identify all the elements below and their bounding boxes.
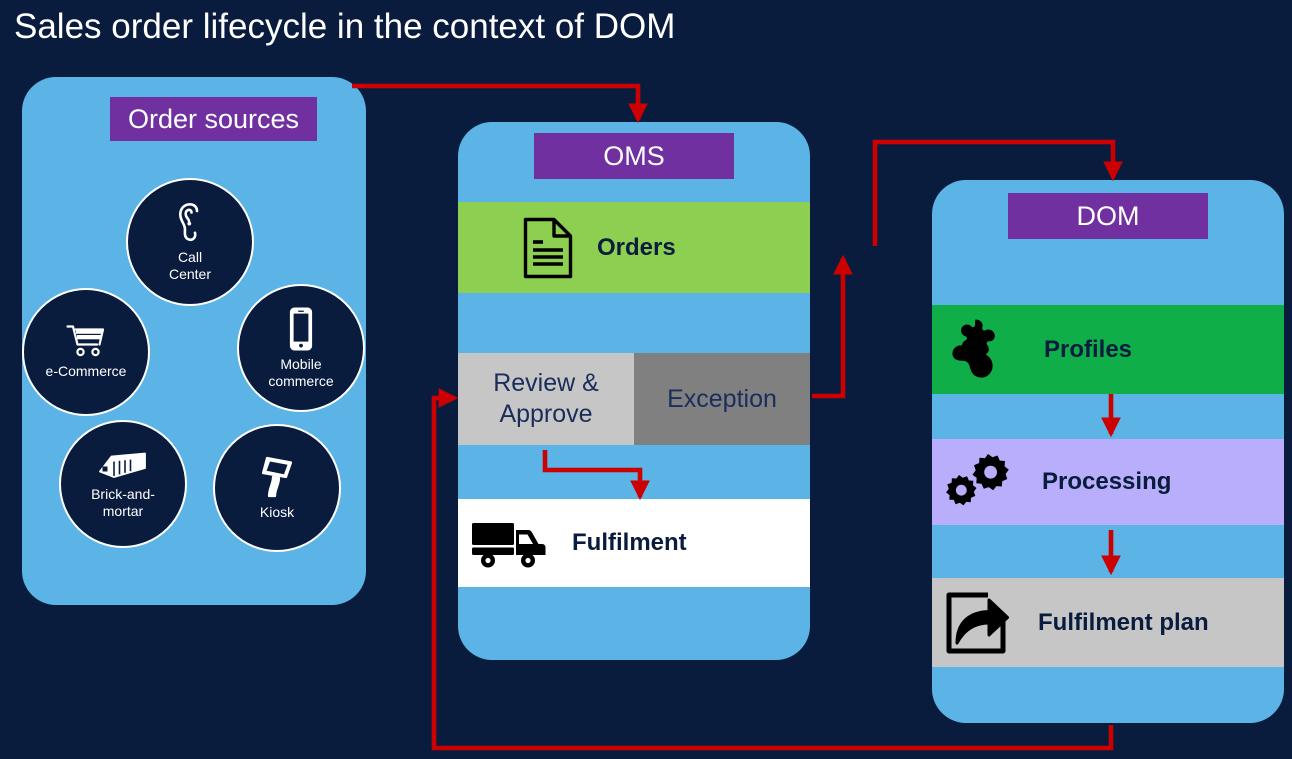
order-source-label: Mobile commerce	[268, 356, 333, 390]
dom-profiles-band[interactable]: Profiles	[932, 305, 1284, 394]
dom-heading: DOM	[1008, 193, 1208, 239]
order-source-call-center[interactable]: Call Center	[126, 178, 254, 306]
document-icon	[523, 217, 573, 279]
oms-fulfilment-band[interactable]: Fulfilment	[458, 499, 810, 587]
slide-canvas: Sales order lifecycle in the context of …	[0, 0, 1292, 759]
dom-profiles-label: Profiles	[1044, 336, 1132, 364]
gears-icon	[944, 449, 1012, 515]
order-source-e-commerce[interactable]: e-Commerce	[22, 288, 150, 416]
dom-panel: DOM Profiles	[932, 180, 1284, 723]
order-sources-heading: Order sources	[110, 97, 317, 141]
shopping-cart-icon	[66, 324, 106, 358]
delivery-truck-icon	[470, 518, 548, 568]
share-export-icon	[944, 590, 1012, 656]
order-source-label: Brick-and- mortar	[91, 486, 155, 520]
ear-icon	[171, 202, 209, 244]
dom-processing-label: Processing	[1042, 468, 1171, 496]
order-sources-panel: Order sources Call Center	[22, 77, 366, 605]
order-source-label: e-Commerce	[46, 363, 127, 380]
dom-fulfilment-plan-band[interactable]: Fulfilment plan	[932, 578, 1284, 667]
oms-orders-label: Orders	[597, 234, 676, 262]
order-source-label: Call Center	[169, 249, 211, 283]
dom-processing-band[interactable]: Processing	[932, 439, 1284, 525]
order-source-mobile-commerce[interactable]: Mobile commerce	[237, 284, 365, 412]
mobile-phone-icon	[288, 307, 314, 351]
order-source-label: Kiosk	[260, 504, 294, 521]
puzzle-piece-icon	[944, 317, 1014, 383]
oms-panel: OMS Orders Review & Approve Exception	[458, 122, 810, 660]
oms-orders-band[interactable]: Orders	[458, 202, 810, 293]
page-title: Sales order lifecycle in the context of …	[14, 2, 914, 54]
order-source-brick-and-mortar[interactable]: Brick-and- mortar	[59, 420, 187, 548]
oms-exception-cell[interactable]: Exception	[634, 353, 810, 445]
oms-fulfilment-label: Fulfilment	[572, 529, 687, 557]
oms-review-exception-row: Review & Approve Exception	[458, 353, 810, 445]
connector-order-sources-to-oms	[352, 86, 638, 120]
store-building-icon	[98, 449, 148, 481]
oms-review-approve-cell[interactable]: Review & Approve	[458, 353, 634, 445]
kiosk-icon	[260, 455, 294, 499]
dom-fulfilment-plan-label: Fulfilment plan	[1038, 609, 1209, 637]
oms-heading: OMS	[534, 133, 734, 179]
order-source-kiosk[interactable]: Kiosk	[213, 424, 341, 552]
connector-exception-to-orders	[812, 258, 843, 396]
